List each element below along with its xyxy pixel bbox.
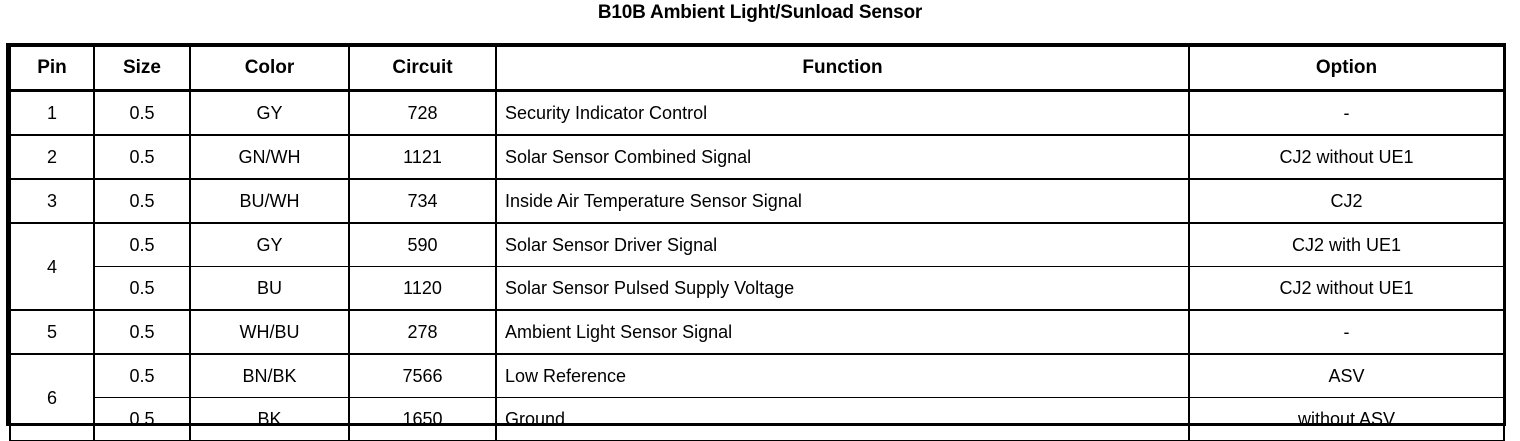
cell-circuit: 728 — [349, 91, 496, 136]
cell-function: Solar Sensor Driver Signal — [496, 223, 1189, 267]
table-body: 10.5GY728Security Indicator Control-20.5… — [10, 91, 1504, 441]
table-header: Pin Size Color Circuit Function Option — [10, 47, 1504, 91]
cell-size: 0.5 — [94, 135, 190, 179]
table-row: 0.5BU1120Solar Sensor Pulsed Supply Volt… — [10, 267, 1504, 311]
table-row: 60.5BN/BK7566Low ReferenceASV — [10, 354, 1504, 398]
cell-size: 0.5 — [94, 354, 190, 398]
cell-color: BU — [190, 267, 349, 311]
cell-color: GY — [190, 91, 349, 136]
cell-option: without ASV — [1189, 398, 1504, 441]
table-row: 30.5BU/WH734Inside Air Temperature Senso… — [10, 179, 1504, 223]
cell-function: Ambient Light Sensor Signal — [496, 310, 1189, 354]
page-title: B10B Ambient Light/Sunload Sensor — [0, 0, 1520, 24]
cell-size: 0.5 — [94, 398, 190, 441]
cell-pin: 4 — [10, 223, 94, 310]
table-row: 20.5GN/WH1121Solar Sensor Combined Signa… — [10, 135, 1504, 179]
cell-color: BN/BK — [190, 354, 349, 398]
cell-size: 0.5 — [94, 223, 190, 267]
column-header-option: Option — [1189, 47, 1504, 91]
cell-option: - — [1189, 91, 1504, 136]
cell-pin: 1 — [10, 91, 94, 136]
cell-color: GY — [190, 223, 349, 267]
column-header-color: Color — [190, 47, 349, 91]
header-row: Pin Size Color Circuit Function Option — [10, 47, 1504, 91]
table-row: 40.5GY590Solar Sensor Driver SignalCJ2 w… — [10, 223, 1504, 267]
cell-color: BK — [190, 398, 349, 441]
cell-circuit: 278 — [349, 310, 496, 354]
table-row: 0.5BK1650Groundwithout ASV — [10, 398, 1504, 441]
cell-size: 0.5 — [94, 310, 190, 354]
cell-option: CJ2 — [1189, 179, 1504, 223]
cell-pin: 6 — [10, 354, 94, 441]
column-header-size: Size — [94, 47, 190, 91]
cell-size: 0.5 — [94, 91, 190, 136]
cell-pin: 5 — [10, 310, 94, 354]
cell-option: ASV — [1189, 354, 1504, 398]
table-row: 10.5GY728Security Indicator Control- — [10, 91, 1504, 136]
cell-option: - — [1189, 310, 1504, 354]
cell-size: 0.5 — [94, 267, 190, 311]
cell-size: 0.5 — [94, 179, 190, 223]
cell-pin: 3 — [10, 179, 94, 223]
column-header-pin: Pin — [10, 47, 94, 91]
cell-function: Security Indicator Control — [496, 91, 1189, 136]
cell-function: Inside Air Temperature Sensor Signal — [496, 179, 1189, 223]
cell-function: Low Reference — [496, 354, 1189, 398]
cell-color: GN/WH — [190, 135, 349, 179]
cell-option: CJ2 with UE1 — [1189, 223, 1504, 267]
cell-circuit: 1121 — [349, 135, 496, 179]
cell-option: CJ2 without UE1 — [1189, 135, 1504, 179]
cell-pin: 2 — [10, 135, 94, 179]
cell-circuit: 7566 — [349, 354, 496, 398]
cell-function: Ground — [496, 398, 1189, 441]
cell-circuit: 734 — [349, 179, 496, 223]
pinout-table: Pin Size Color Circuit Function Option 1… — [9, 46, 1505, 441]
cell-function: Solar Sensor Combined Signal — [496, 135, 1189, 179]
column-header-function: Function — [496, 47, 1189, 91]
cell-circuit: 1120 — [349, 267, 496, 311]
cell-option: CJ2 without UE1 — [1189, 267, 1504, 311]
column-header-circuit: Circuit — [349, 47, 496, 91]
pinout-table-container: Pin Size Color Circuit Function Option 1… — [6, 43, 1506, 426]
cell-color: BU/WH — [190, 179, 349, 223]
table-row: 50.5WH/BU278Ambient Light Sensor Signal- — [10, 310, 1504, 354]
cell-circuit: 590 — [349, 223, 496, 267]
pinout-page: B10B Ambient Light/Sunload Sensor Pin Si… — [0, 0, 1520, 432]
cell-function: Solar Sensor Pulsed Supply Voltage — [496, 267, 1189, 311]
cell-color: WH/BU — [190, 310, 349, 354]
cell-circuit: 1650 — [349, 398, 496, 441]
